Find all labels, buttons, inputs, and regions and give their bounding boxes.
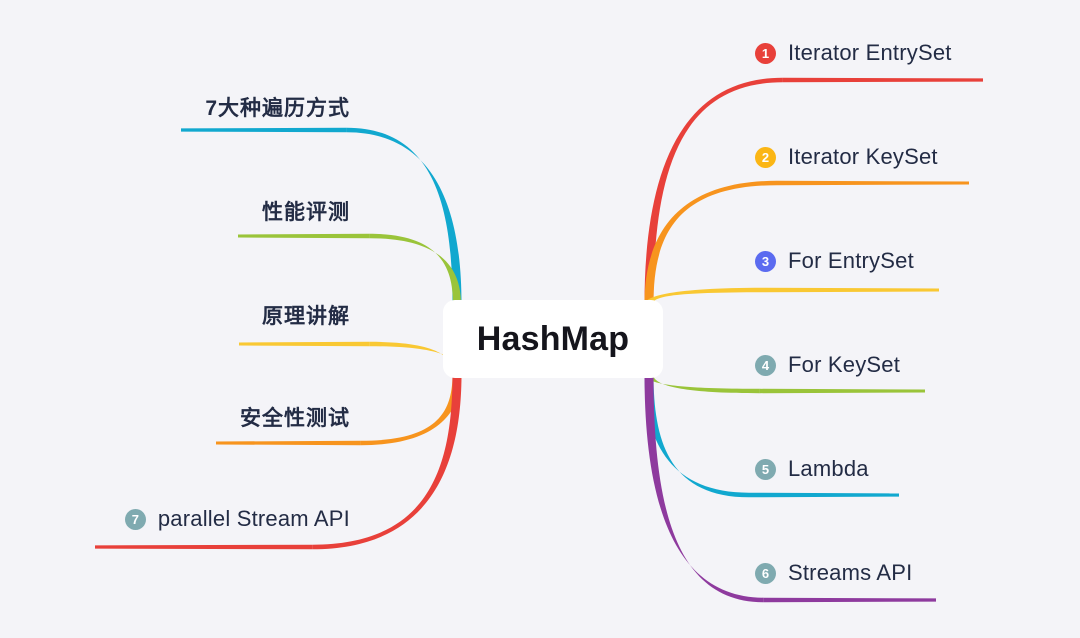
badge-number-2: 2 — [755, 147, 776, 168]
mindmap-canvas: HashMap 1Iterator EntrySet2Iterator KeyS… — [0, 0, 1080, 638]
node-label-text-lambda: Lambda — [788, 456, 869, 482]
node-label-principle-explanation[interactable]: 原理讲解 — [0, 300, 350, 330]
node-label-for-keyset[interactable]: 4For KeySet — [755, 352, 900, 378]
branch-line-safety-test — [216, 441, 361, 445]
badge-number-7: 7 — [125, 509, 146, 530]
node-label-parallel-stream-api[interactable]: 7parallel Stream API — [0, 506, 350, 532]
branch-curve-for-keyset — [645, 374, 759, 393]
branch-line-performance-test — [238, 234, 369, 238]
branch-line-iterator-keyset — [777, 181, 969, 185]
branch-line-principle-explanation — [239, 342, 370, 346]
branch-performance-test — [238, 234, 461, 304]
branch-curve-safety-test — [361, 374, 462, 445]
node-label-safety-test[interactable]: 安全性测试 — [0, 402, 350, 432]
center-node[interactable]: HashMap — [443, 300, 663, 378]
node-label-traversal-methods[interactable]: 7大种遍历方式 — [0, 92, 350, 122]
badge-number-3: 3 — [755, 251, 776, 272]
branch-curve-performance-test — [369, 234, 461, 304]
node-label-for-entryset[interactable]: 3For EntrySet — [755, 248, 914, 274]
node-label-text-parallel-stream-api: parallel Stream API — [158, 506, 350, 532]
node-label-text-principle-explanation: 原理讲解 — [262, 300, 350, 330]
center-node-label: HashMap — [477, 320, 630, 359]
branch-curve-for-entryset — [645, 288, 765, 304]
badge-number-5: 5 — [755, 459, 776, 480]
branch-for-entryset — [645, 288, 939, 304]
branch-line-traversal-methods — [181, 128, 347, 133]
node-label-iterator-keyset[interactable]: 2Iterator KeySet — [755, 144, 938, 170]
node-label-text-for-entryset: For EntrySet — [788, 248, 914, 274]
branch-line-parallel-stream-api — [95, 545, 312, 550]
node-label-text-performance-test: 性能评测 — [262, 196, 350, 226]
node-label-text-for-keyset: For KeySet — [788, 352, 900, 378]
badge-number-1: 1 — [755, 43, 776, 64]
branch-line-streams-api — [764, 598, 936, 603]
node-label-text-streams-api: Streams API — [788, 560, 912, 586]
badge-number-4: 4 — [755, 355, 776, 376]
branch-line-lambda — [749, 493, 899, 498]
node-label-streams-api[interactable]: 6Streams API — [755, 560, 912, 586]
branch-line-for-entryset — [765, 288, 939, 292]
node-label-performance-test[interactable]: 性能评测 — [0, 196, 350, 226]
branch-line-iterator-entryset — [783, 78, 983, 83]
node-label-text-iterator-entryset: Iterator EntrySet — [788, 40, 952, 66]
node-label-iterator-entryset[interactable]: 1Iterator EntrySet — [755, 40, 952, 66]
branch-line-for-keyset — [759, 389, 925, 393]
node-label-text-safety-test: 安全性测试 — [240, 402, 350, 432]
branch-principle-explanation — [239, 342, 461, 374]
node-label-lambda[interactable]: 5Lambda — [755, 456, 869, 482]
badge-number-6: 6 — [755, 563, 776, 584]
node-label-text-traversal-methods: 7大种遍历方式 — [205, 92, 350, 122]
node-label-text-iterator-keyset: Iterator KeySet — [788, 144, 938, 170]
branch-curve-traversal-methods — [347, 128, 462, 304]
branch-curve-iterator-keyset — [645, 181, 778, 304]
branch-iterator-keyset — [645, 181, 970, 304]
